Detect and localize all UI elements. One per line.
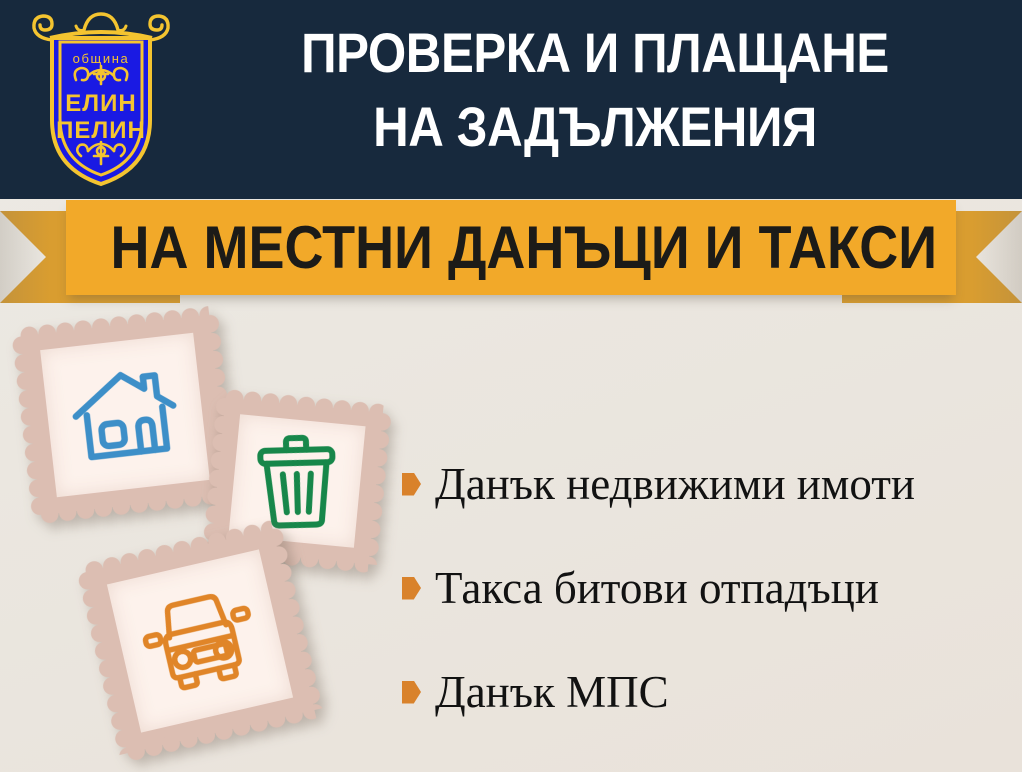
ribbon-shadow-right: [972, 211, 1022, 303]
ribbon-label: НА МЕСТНИ ДАНЪЦИ И ТАКСИ: [111, 200, 912, 295]
municipality-logo: община ЕЛИН ПЕЛИН: [26, 8, 176, 190]
coat-of-arms-icon: община ЕЛИН ПЕЛИН: [26, 8, 176, 190]
stamp-card-property: [20, 315, 229, 515]
trash-bin-icon: [248, 428, 347, 534]
car-front-icon: [135, 584, 265, 699]
house-icon: [66, 361, 184, 469]
stamp-paper: [107, 549, 293, 732]
poster-title-line-1: ПРОВЕРКА И ПЛАЩАНЕ: [301, 21, 889, 84]
poster-title: ПРОВЕРКА И ПЛАЩАНЕ НА ЗАДЪЛЖЕНИЯ: [230, 16, 960, 165]
ribbon-shadow-left: [0, 211, 50, 303]
list-item[interactable]: Данък МПС: [402, 640, 1012, 744]
arrow-bullet-icon: [402, 681, 421, 704]
arrow-bullet-icon: [402, 577, 421, 600]
stamp-card-vehicle: [86, 529, 315, 753]
subtitle-ribbon: НА МЕСТНИ ДАНЪЦИ И ТАКСИ: [0, 198, 1022, 308]
svg-text:ЕЛИН: ЕЛИН: [65, 90, 136, 117]
header-bar: община ЕЛИН ПЕЛИН: [0, 0, 1022, 199]
list-item-label: Такса битови отпадъци: [435, 566, 879, 611]
list-item-label: Данък недвижими имоти: [435, 462, 915, 507]
list-item[interactable]: Такса битови отпадъци: [402, 536, 1012, 640]
list-item[interactable]: Данък недвижими имоти: [402, 432, 1012, 536]
poster-root: община ЕЛИН ПЕЛИН: [0, 0, 1022, 772]
svg-text:ПЕЛИН: ПЕЛИН: [56, 117, 146, 144]
svg-text:община: община: [73, 51, 130, 66]
tax-type-list: Данък недвижими имоти Такса битови отпад…: [402, 432, 1012, 744]
stamp-paper: [40, 333, 210, 497]
list-item-label: Данък МПС: [435, 670, 669, 715]
arrow-bullet-icon: [402, 473, 421, 496]
poster-title-line-2: НА ЗАДЪЛЖЕНИЯ: [230, 90, 960, 164]
